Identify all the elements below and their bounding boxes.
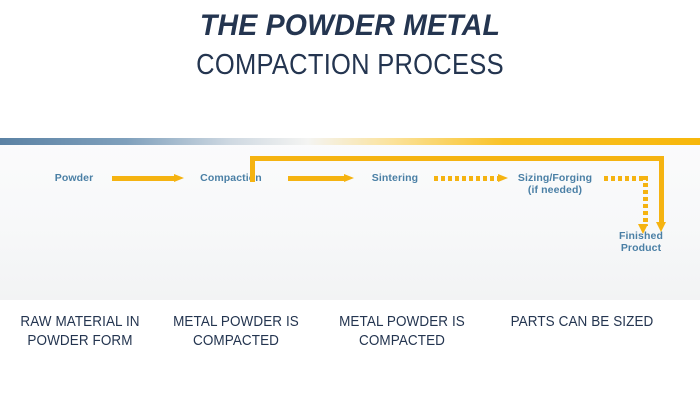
bypass-arrow-head <box>656 222 666 232</box>
bypass-top-rail <box>250 156 664 161</box>
stage-label-sizing-forging-main: Sizing/Forging <box>518 172 592 184</box>
stage-label-sintering: Sintering <box>352 172 438 184</box>
page-title: THE POWDER METAL COMPACTION PROCESS <box>0 6 700 84</box>
title-line-primary: THE POWDER METAL <box>18 6 683 46</box>
route-sizing-arrow-head <box>638 224 648 234</box>
bypass-downer <box>659 156 664 224</box>
band-accent-bar <box>0 138 700 145</box>
caption-compacted-second: METAL POWDER IS COMPACTED <box>324 313 480 351</box>
process-diagram-band: Powder Compaction Sintering Sizing/Forgi… <box>0 138 700 300</box>
caption-compacted-second-line1: METAL POWDER IS <box>339 314 465 330</box>
caption-raw-material: RAW MATERIAL IN POWDER FORM <box>6 313 155 351</box>
caption-raw-material-line1: RAW MATERIAL IN <box>20 314 139 330</box>
arrow-shaft <box>288 176 344 181</box>
arrow-head <box>174 174 184 182</box>
arrow-shaft <box>434 176 498 181</box>
route-sizing-horizontal <box>604 176 648 181</box>
arrow-powder-to-compaction <box>112 174 184 183</box>
arrow-head <box>498 174 508 182</box>
arrow-head <box>344 174 354 182</box>
caption-compacted-first-line2: COMPACTED <box>193 333 279 349</box>
caption-compacted-first-line1: METAL POWDER IS <box>173 314 299 330</box>
title-line-secondary: COMPACTION PROCESS <box>42 46 658 84</box>
caption-parts-sized: PARTS CAN BE SIZED <box>498 313 665 332</box>
caption-parts-sized-line1: PARTS CAN BE SIZED <box>511 314 654 330</box>
route-sizing-vertical <box>643 176 648 226</box>
caption-compacted-first: METAL POWDER IS COMPACTED <box>158 313 314 351</box>
arrow-shaft <box>112 176 174 181</box>
caption-compacted-second-line2: COMPACTED <box>359 333 445 349</box>
stage-label-compaction: Compaction <box>176 172 286 184</box>
stage-label-powder: Powder <box>28 172 120 184</box>
stage-label-sizing-forging: Sizing/Forging (if needed) <box>500 172 610 196</box>
stage-label-finished-line2: Product <box>621 242 661 254</box>
arrow-sintering-to-sizing <box>434 174 508 183</box>
stage-label-sizing-forging-sub: (if needed) <box>528 184 582 196</box>
caption-raw-material-line2: POWDER FORM <box>27 333 132 349</box>
arrow-compaction-to-sintering <box>288 174 354 183</box>
